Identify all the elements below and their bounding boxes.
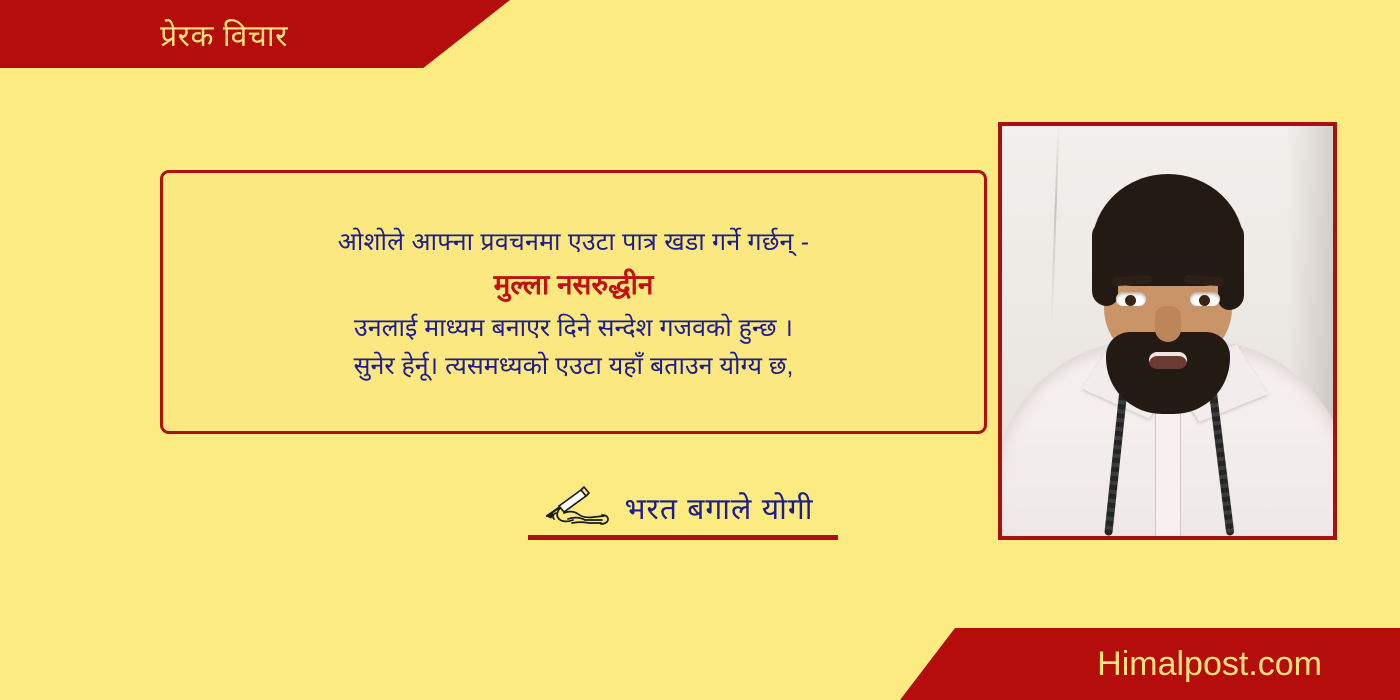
wall-crack bbox=[1051, 126, 1060, 326]
quote-line-3: उनलाई माध्यम बनाएर दिने सन्देश गजवको हुन… bbox=[354, 309, 793, 347]
pupil-right bbox=[1199, 295, 1210, 306]
pupil-left bbox=[1125, 295, 1136, 306]
quote-highlight-name: मुल्ला नसरुद्धीन bbox=[494, 261, 654, 309]
quote-box: ओशोले आफ्ना प्रवचनमा एउटा पात्र खडा गर्न… bbox=[160, 170, 987, 434]
site-watermark: Himalpost.com bbox=[1097, 628, 1322, 700]
hair-side-right bbox=[1218, 222, 1244, 310]
writing-hand-icon bbox=[544, 483, 610, 531]
signature-name: भरत बगाले योगी bbox=[624, 487, 813, 528]
page-title: प्रेरक विचार bbox=[0, 0, 420, 68]
author-portrait-photo bbox=[1002, 126, 1333, 536]
shirt-placket bbox=[1155, 404, 1181, 536]
signature-underline bbox=[528, 535, 838, 540]
signature-row: भरत बगाले योगी bbox=[544, 483, 813, 531]
signature-block: भरत बगाले योगी bbox=[520, 483, 838, 540]
quote-line-1: ओशोले आफ्ना प्रवचनमा एउटा पात्र खडा गर्न… bbox=[338, 223, 810, 261]
portrait-frame bbox=[998, 122, 1337, 540]
nose bbox=[1155, 306, 1181, 342]
hair-side-left bbox=[1092, 222, 1118, 306]
mouth bbox=[1149, 352, 1187, 369]
quote-line-4: सुनेर हेर्नू। त्यसमध्यको एउटा यहाँ बताउन… bbox=[354, 347, 794, 385]
